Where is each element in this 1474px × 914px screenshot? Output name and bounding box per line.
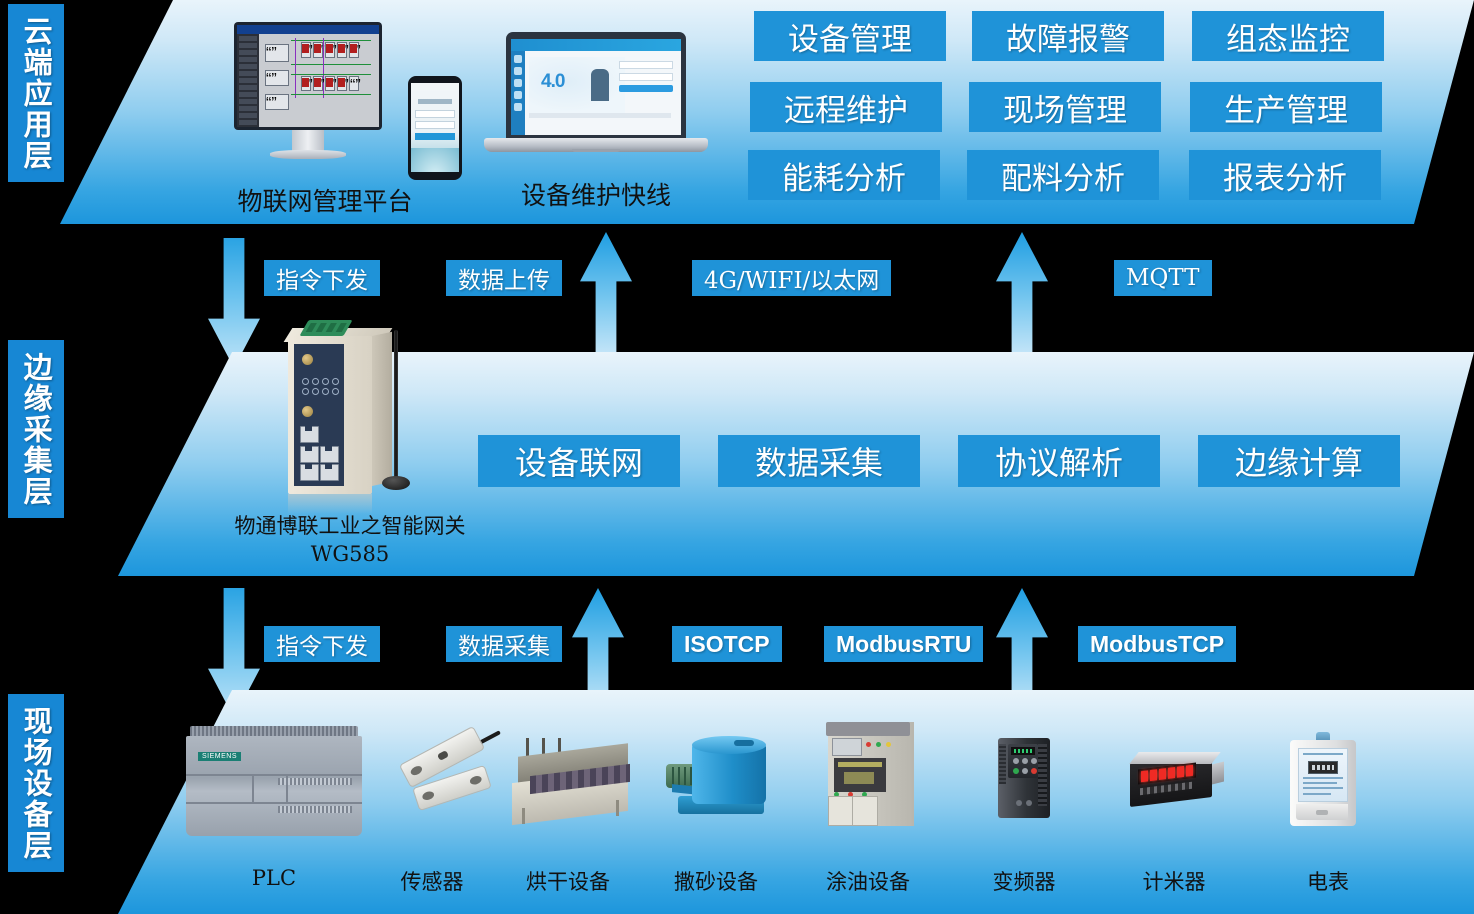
caption-counter: 计米器 <box>1114 866 1234 896</box>
plc-device-icon: SIEMENS <box>186 726 362 838</box>
app-chip-remote-maintenance[interactable]: 远程维护 <box>750 82 942 132</box>
flow-chip-command-dispatch-cloud: 指令下发 <box>264 260 380 296</box>
arrow-data-upload-edge-to-cloud <box>580 232 632 362</box>
flow-chip-command-dispatch-field: 指令下发 <box>264 626 380 662</box>
caption-vfd: 变频器 <box>964 866 1084 896</box>
edge-chip-edge-computing[interactable]: 边缘计算 <box>1198 435 1400 487</box>
caption-dryer: 烘干设备 <box>508 866 628 896</box>
industrial-gateway-icon <box>274 312 424 512</box>
caption-iot-platform: 物联网管理平台 <box>180 182 470 218</box>
architecture-diagram: 云端应用层 <box>0 0 1474 914</box>
oiling-machine-icon <box>822 722 920 830</box>
maintenance-line-laptop-icon: 4.0 <box>484 32 708 168</box>
mobile-app-phone-icon <box>408 76 462 180</box>
caption-sand-spreader: 撒砂设备 <box>656 866 776 896</box>
flow-chip-mqtt: MQTT <box>1114 260 1212 296</box>
caption-gateway: 物通博联工业之智能网关 WG585 <box>190 512 510 569</box>
caption-maintenance-line: 设备维护快线 <box>466 176 726 212</box>
layer-tag-edge: 边缘采集层 <box>8 340 64 518</box>
arrow-mqtt-edge-to-cloud <box>996 232 1048 362</box>
edge-chip-device-networking[interactable]: 设备联网 <box>478 435 680 487</box>
vfd-device-icon <box>998 738 1050 818</box>
caption-oiling-machine: 涂油设备 <box>808 866 928 896</box>
app-chip-production-management[interactable]: 生产管理 <box>1190 82 1382 132</box>
app-chip-report-analysis[interactable]: 报表分析 <box>1189 150 1381 200</box>
app-chip-scada-monitoring[interactable]: 组态监控 <box>1192 11 1384 61</box>
app-chip-material-analysis[interactable]: 配料分析 <box>967 150 1159 200</box>
caption-sensor: 传感器 <box>372 866 492 896</box>
app-chip-site-management[interactable]: 现场管理 <box>969 82 1161 132</box>
app-chip-fault-alarm[interactable]: 故障报警 <box>972 11 1164 61</box>
sensor-device-icon <box>392 738 502 824</box>
flow-chip-data-acquisition: 数据采集 <box>446 626 562 662</box>
meter-counter-icon <box>1130 752 1226 812</box>
layer-tag-field: 现场设备层 <box>8 694 64 872</box>
sand-spreader-icon <box>666 734 776 828</box>
arrow-command-down-cloud-to-edge <box>208 238 260 368</box>
flow-chip-modbusrtu: ModbusRTU <box>824 626 983 662</box>
iot-platform-monitor-icon <box>234 22 382 172</box>
app-chip-equipment-management[interactable]: 设备管理 <box>754 11 946 61</box>
flow-chip-modbustcp: ModbusTCP <box>1078 626 1236 662</box>
drying-equipment-icon <box>512 736 646 828</box>
flow-chip-isotcp: ISOTCP <box>672 626 782 662</box>
electric-meter-icon <box>1290 732 1358 828</box>
edge-chip-protocol-parsing[interactable]: 协议解析 <box>958 435 1160 487</box>
edge-chip-data-acquisition[interactable]: 数据采集 <box>718 435 920 487</box>
flow-chip-data-upload: 数据上传 <box>446 260 562 296</box>
layer-tag-cloud: 云端应用层 <box>8 4 64 182</box>
caption-gateway-line1: 物通博联工业之智能网关 <box>190 512 510 540</box>
caption-gateway-line2: WG585 <box>190 540 510 568</box>
caption-plc: PLC <box>214 866 334 890</box>
flow-chip-network-4g-wifi-ethernet: 4G/WIFI/以太网 <box>692 260 891 296</box>
caption-electric-meter: 电表 <box>1268 866 1388 896</box>
app-chip-energy-analysis[interactable]: 能耗分析 <box>748 150 940 200</box>
